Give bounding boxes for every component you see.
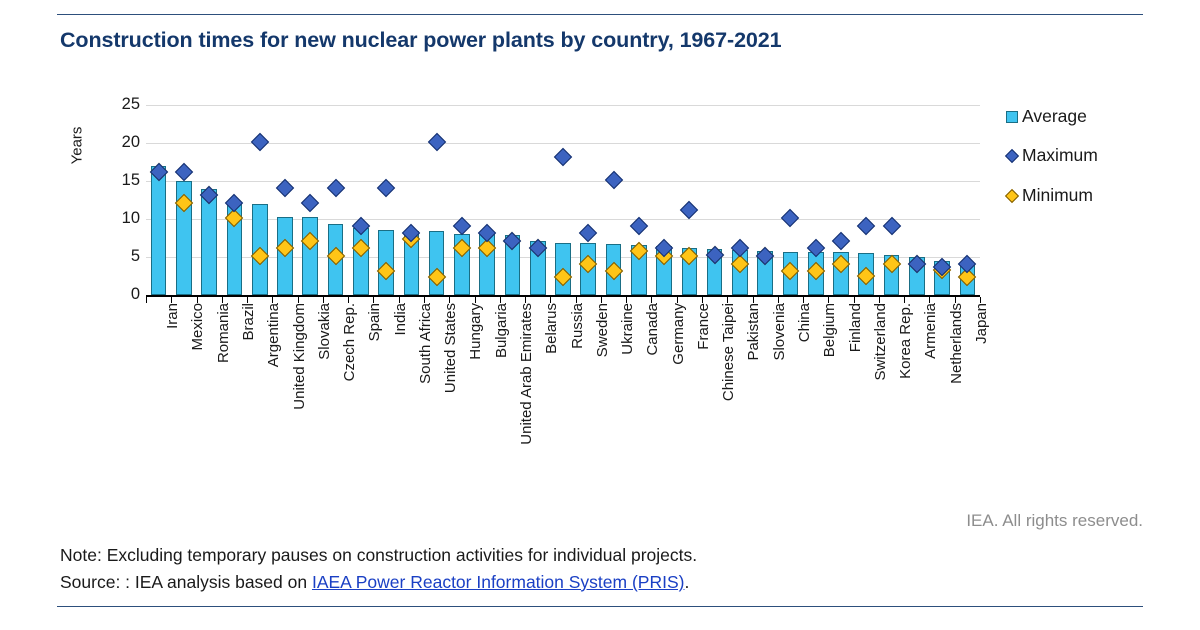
source-prefix: Source: : IEA analysis based on [60,572,312,592]
legend-square-icon [1006,111,1018,123]
x-axis-label-text: Belarus [543,303,560,354]
legend-item-maximum[interactable]: Maximum [1006,147,1098,165]
x-axis-label: Bulgaria [493,303,510,358]
x-axis-label-text: Pakistan [745,303,762,361]
x-axis-label-text: Sweden [594,303,611,357]
marker-maximum[interactable] [579,224,597,242]
y-tick-label-5: 5 [104,248,140,265]
x-axis-label-text: Hungary [467,303,484,360]
legend-label-minimum: Minimum [1022,187,1093,205]
marker-maximum[interactable] [301,194,319,212]
y-tick-label-10: 10 [104,210,140,227]
marker-maximum[interactable] [251,133,269,151]
bar-average[interactable] [201,189,217,295]
x-axis-label-text: France [695,303,712,350]
legend-label-maximum: Maximum [1022,147,1098,165]
rights-notice: IEA. All rights reserved. [966,511,1143,531]
x-axis-label-text: Bulgaria [493,303,510,358]
x-axis-label: Netherlands [948,303,965,384]
source-link[interactable]: IAEA Power Reactor Information System (P… [312,572,685,592]
x-axis-label-text: Ukraine [619,303,636,355]
x-axis-label-text: Slovakia [316,303,333,360]
x-axis-label: Korea Rep. [897,303,914,379]
x-axis-label-text: Mexico [189,303,206,351]
marker-maximum[interactable] [377,178,395,196]
x-axis-label: Mexico [189,303,206,351]
x-axis-label: Armenia [922,303,939,359]
chart-page: Construction times for new nuclear power… [0,0,1200,630]
y-tick-label-0: 0 [104,286,140,303]
x-axis-label-text: China [796,303,813,342]
x-axis-label: United States [442,303,459,393]
x-axis-label-text: Armenia [922,303,939,359]
x-axis-label: Japan [973,303,990,344]
x-axis-label-text: United States [442,303,459,393]
x-axis-label-text: Netherlands [948,303,965,384]
x-axis-label: Canada [644,303,661,356]
legend-label-average: Average [1022,108,1087,126]
x-axis-label: Ukraine [619,303,636,355]
marker-maximum[interactable] [427,133,445,151]
legend-diamond-max-icon [1005,149,1019,163]
note-text: Note: Excluding temporary pauses on cons… [60,545,697,566]
x-axis-label-text: Czech Rep. [341,303,358,381]
x-axis-label: Slovenia [771,303,788,361]
legend-item-minimum[interactable]: Minimum [1006,187,1093,205]
bottom-divider-rule [57,606,1143,607]
x-axis-label-text: Japan [973,303,990,344]
y-tick-label-20: 20 [104,134,140,151]
marker-maximum[interactable] [276,178,294,196]
x-axis-label-text: India [392,303,409,336]
x-axis-label-text: Spain [366,303,383,341]
marker-maximum[interactable] [554,148,572,166]
x-axis-label: Germany [670,303,687,365]
x-axis-label: China [796,303,813,342]
x-axis-label-text: Belgium [821,303,838,357]
marker-maximum[interactable] [453,216,471,234]
x-axis-label: Belarus [543,303,560,354]
x-axis-label-text: United Arab Emirates [518,303,535,445]
x-axis-label: India [392,303,409,336]
x-axis-label-text: Iran [164,303,181,329]
x-axis-label: Iran [164,303,181,329]
x-axis-label: United Arab Emirates [518,303,535,445]
x-axis-label: Spain [366,303,383,341]
y-tick-label-25: 25 [104,96,140,113]
x-axis-label-text: South Africa [417,303,434,384]
source-suffix: . [684,572,689,592]
x-axis-label-text: Chinese Taipei [720,303,737,401]
x-axis-label: France [695,303,712,350]
x-axis-label: South Africa [417,303,434,384]
x-axis-label-text: Slovenia [771,303,788,361]
y-tick-label-15: 15 [104,172,140,189]
marker-maximum[interactable] [832,232,850,250]
x-axis-label-text: United Kingdom [291,303,308,410]
x-axis-label-text: Germany [670,303,687,365]
x-axis-label-text: Russia [569,303,586,349]
marker-maximum[interactable] [630,216,648,234]
x-axis-label: Russia [569,303,586,349]
marker-maximum[interactable] [680,201,698,219]
source-text: Source: : IEA analysis based on IAEA Pow… [60,572,689,593]
marker-maximum[interactable] [326,178,344,196]
plot-area: Years 0510152025 IranMexicoRomaniaBrazil… [0,0,1200,470]
x-axis-label: Switzerland [872,303,889,381]
x-axis-label-text: Switzerland [872,303,889,381]
bar-average[interactable] [151,166,167,295]
legend-item-average[interactable]: Average [1006,108,1087,126]
plot-canvas [146,105,980,295]
marker-maximum[interactable] [857,216,875,234]
x-axis-label-text: Canada [644,303,661,356]
x-axis-labels: IranMexicoRomaniaBrazilArgentinaUnited K… [146,303,980,463]
x-axis-label: Chinese Taipei [720,303,737,401]
y-axis-title: Years [66,100,88,190]
x-axis-label: Argentina [265,303,282,367]
x-axis-label: Pakistan [745,303,762,361]
x-axis-label-text: Brazil [240,303,257,341]
legend-diamond-min-icon [1005,189,1019,203]
x-axis-label: Hungary [467,303,484,360]
marker-maximum[interactable] [604,171,622,189]
x-axis-label: Belgium [821,303,838,357]
x-axis-label: Sweden [594,303,611,357]
x-axis-line [146,295,980,297]
x-axis-label: Romania [215,303,232,363]
bar-average[interactable] [302,217,318,295]
x-axis-label: Finland [847,303,864,352]
x-axis-label: Slovakia [316,303,333,360]
x-axis-label-text: Romania [215,303,232,363]
x-axis-label: Brazil [240,303,257,341]
marker-maximum[interactable] [175,163,193,181]
x-axis-label-text: Argentina [265,303,282,367]
x-axis-label-text: Finland [847,303,864,352]
y-axis-title-text: Years [69,126,86,164]
x-axis-label: Czech Rep. [341,303,358,381]
x-axis-label: United Kingdom [291,303,308,410]
x-axis-label-text: Korea Rep. [897,303,914,379]
marker-maximum[interactable] [882,216,900,234]
marker-maximum[interactable] [781,209,799,227]
